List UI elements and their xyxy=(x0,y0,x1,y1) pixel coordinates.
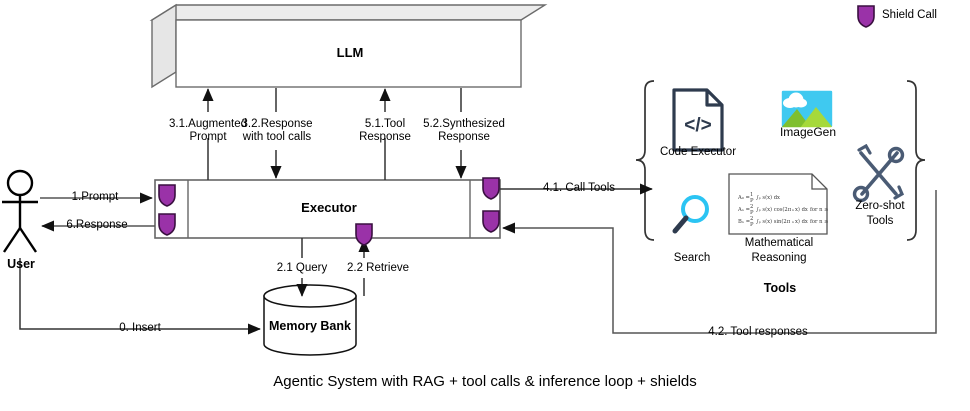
svg-text:Aₙ =: Aₙ = xyxy=(737,207,750,213)
magnifier-icon xyxy=(670,192,714,240)
edge-label-response: 6.Response xyxy=(48,219,146,232)
svg-text:for n ≥ 1: for n ≥ 1 xyxy=(810,219,828,225)
tool-label-imagegen: ImageGen xyxy=(770,126,846,139)
svg-text:ₙ: ₙ xyxy=(792,219,794,225)
diagram-caption: Agentic System with RAG + tool calls & i… xyxy=(0,375,970,388)
edge-label-retrieve: 2.2 Retrieve xyxy=(326,262,430,275)
edge-label-call-tools: 4.1. Call Tools xyxy=(524,182,634,195)
tool-label-search: Search xyxy=(652,252,732,265)
svg-text:x) dx: x) dx xyxy=(795,218,808,225)
svg-text:∫ₚ s(x) cos(2π: ∫ₚ s(x) cos(2π xyxy=(756,206,792,213)
edge-label-response-tool-calls: 3.2.Response with tool calls xyxy=(216,118,338,144)
crossed-wrench-screwdriver-icon xyxy=(851,144,907,204)
shield-icon-memory-retrieve xyxy=(354,222,374,246)
tool-label-mathematical-reasoning: Mathematical Reasoning xyxy=(724,236,834,266)
svg-text:ₙ: ₙ xyxy=(792,207,794,213)
llm-label: LLM xyxy=(300,46,400,59)
svg-text:∫ₚ s(x) dx: ∫ₚ s(x) dx xyxy=(756,194,780,201)
shield-icon-executor-out-top xyxy=(481,176,501,200)
math-document-icon: A₀ = 1P ∫ₚ s(x) dx Aₙ = 2P ∫ₚ s(x) cos(2… xyxy=(728,173,828,235)
edge-label-synthesized-response: 5.2.Synthesized Response xyxy=(404,118,524,144)
memory-bank-label: Memory Bank xyxy=(260,320,360,333)
user-label: User xyxy=(0,258,44,271)
shield-icon-executor-in-bottom xyxy=(157,212,177,236)
shield-icon-legend xyxy=(856,4,876,28)
legend-shield-label: Shield Call xyxy=(882,9,970,22)
svg-text:for n ≥ 1: for n ≥ 1 xyxy=(810,207,828,213)
user-stick-figure xyxy=(2,171,38,252)
svg-text:P: P xyxy=(750,222,754,228)
edge-label-prompt: 1.Prompt xyxy=(50,191,140,204)
tool-label-zero-shot-tools: Zero-shot Tools xyxy=(841,199,919,229)
code-document-icon: </> xyxy=(671,87,725,153)
executor-label: Executor xyxy=(279,201,379,214)
svg-text:∫ₚ s(x) sin(2π: ∫ₚ s(x) sin(2π xyxy=(756,218,791,225)
shield-icon-executor-out-bottom xyxy=(481,209,501,233)
tools-brace-left xyxy=(636,81,654,240)
edge-insert xyxy=(20,258,260,329)
edge-label-insert: 0. Insert xyxy=(80,322,200,335)
tools-group-label: Tools xyxy=(730,282,830,295)
svg-text:A₀ =: A₀ = xyxy=(737,195,750,201)
svg-text:x) dx: x) dx xyxy=(795,206,808,213)
tool-label-code-executor: Code Executor xyxy=(648,146,748,159)
svg-text:</>: </> xyxy=(684,115,711,136)
edge-label-tool-responses: 4.2. Tool responses xyxy=(668,326,848,339)
shield-icon-executor-in-top xyxy=(157,183,177,207)
svg-text:Bₙ =: Bₙ = xyxy=(738,219,750,225)
image-photo-icon xyxy=(780,89,834,129)
